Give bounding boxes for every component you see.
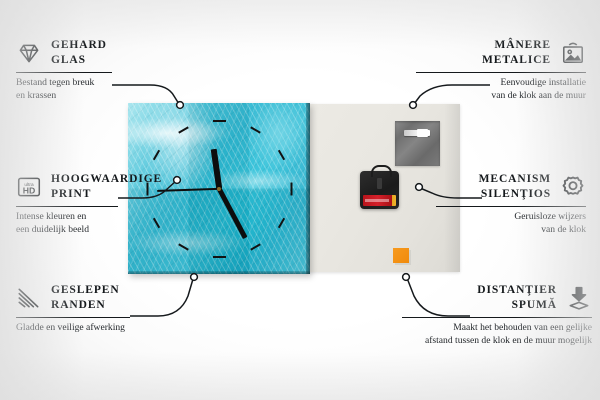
feature-gehard-glas: GEHARD GLAS Bestand tegen breuk en krass… — [16, 38, 166, 102]
diamond-icon — [16, 40, 42, 66]
feature-distantier-spuma: DISTANŢIER SPUMĂ Maakt het behouden van … — [392, 283, 592, 347]
wall-frame-hook-icon — [560, 40, 586, 66]
connector-dot-mecanism-silentios — [416, 184, 423, 191]
feature-desc-line1: Geruisloze wijzers — [426, 211, 586, 223]
spacer-arrow-icon — [566, 285, 592, 311]
connector-dot-geslepen-randen — [191, 274, 198, 281]
svg-text:HD: HD — [23, 186, 36, 196]
feature-desc-line2: en krassen — [16, 90, 166, 102]
feature-rule — [416, 72, 586, 73]
feature-title-line1: GESLEPEN — [51, 283, 120, 298]
feature-desc-line2: een duidelijk beeld — [16, 224, 176, 236]
feature-geslepen-randen: GESLEPEN RANDEN Gladde en veilige afwerk… — [16, 283, 186, 335]
feature-title-line2: SPUMĂ — [477, 298, 557, 313]
beveled-edge-icon — [16, 285, 42, 311]
feature-rule — [16, 72, 112, 73]
feature-desc-line1: Gladde en veilige afwerking — [16, 322, 186, 334]
feature-desc-line1: Eenvoudige installatie — [406, 77, 586, 89]
feature-title-line1: HOOGWAARDIGE — [51, 172, 162, 187]
connector-dot-manere-metalice — [410, 102, 417, 109]
feature-desc-line1: Intense kleuren en — [16, 211, 176, 223]
feature-title-line1: GEHARD — [51, 38, 107, 53]
feature-mecanism-silentios: MECANISM SILENŢIOS Geruisloze wijzers va… — [426, 172, 586, 236]
feature-desc-line1: Bestand tegen breuk — [16, 77, 166, 89]
feature-rule — [16, 317, 130, 318]
feature-desc-line2: van de klok aan de muur — [406, 90, 586, 102]
gear-icon — [560, 174, 586, 200]
infographic-canvas: GEHARD GLAS Bestand tegen breuk en krass… — [0, 0, 600, 400]
feature-desc-line1: Maakt het behouden van een gelijke — [392, 322, 592, 334]
feature-hoogwaardige-print: ultra HD HOOGWAARDIGE PRINT Intense kleu… — [16, 172, 176, 236]
feature-title-line1: MECANISM — [479, 172, 551, 187]
feature-rule — [402, 317, 592, 318]
feature-title-line2: PRINT — [51, 187, 162, 202]
feature-title-line1: MÂNERE — [482, 38, 551, 53]
feature-desc-line2: afstand tussen de klok en de muur mogeli… — [392, 335, 592, 347]
feature-rule — [16, 206, 118, 207]
connector-dot-distantier-spuma — [403, 274, 410, 281]
feature-manere-metalice: MÂNERE METALICE Eenvoudige installatie v… — [406, 38, 586, 102]
feature-rule — [436, 206, 586, 207]
feature-desc-line2: van de klok — [426, 224, 586, 236]
feature-title-line2: GLAS — [51, 53, 107, 68]
feature-title-line2: RANDEN — [51, 298, 120, 313]
feature-title-line1: DISTANŢIER — [477, 283, 557, 298]
feature-title-line2: METALICE — [482, 53, 551, 68]
feature-title-line2: SILENŢIOS — [479, 187, 551, 202]
connector-dot-gehard-glas — [177, 102, 184, 109]
ultra-hd-icon: ultra HD — [16, 174, 42, 200]
